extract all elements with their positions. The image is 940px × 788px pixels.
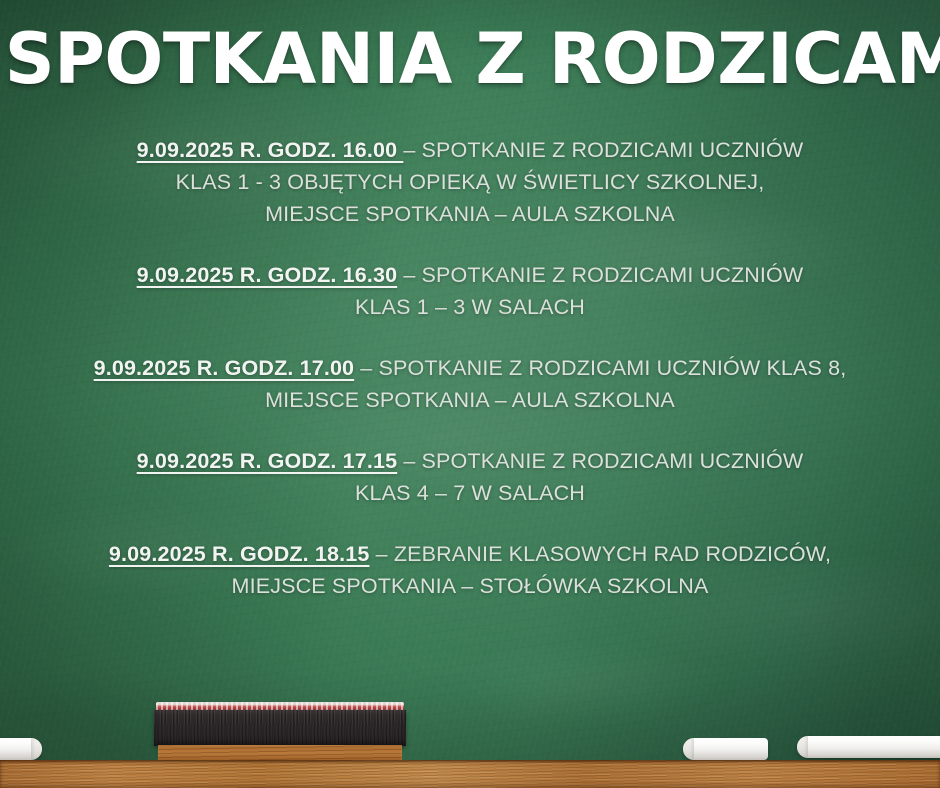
entry-text: – SPOTKANIE Z RODZICAMI UCZNIÓW KLAS 8, xyxy=(354,356,846,380)
entry-datetime: 9.09.2025 R. GODZ. 17.15 xyxy=(137,449,398,473)
entry-text: MIEJSCE SPOTKANIA – AULA SZKOLNA xyxy=(0,198,940,230)
schedule-entry: 9.09.2025 R. GODZ. 17.15 – SPOTKANIE Z R… xyxy=(0,445,940,509)
entry-datetime: 9.09.2025 R. GODZ. 18.15 xyxy=(109,542,370,566)
schedule-entry: 9.09.2025 R. GODZ. 16.00 – SPOTKANIE Z R… xyxy=(0,134,940,230)
entry-text: – SPOTKANIE Z RODZICAMI UCZNIÓW xyxy=(397,449,803,473)
entry-datetime: 9.09.2025 R. GODZ. 17.00 xyxy=(94,356,355,380)
chalk-stick-middle xyxy=(683,738,768,760)
entry-text: MIEJSCE SPOTKANIA – AULA SZKOLNA xyxy=(0,384,940,416)
entry-text: MIEJSCE SPOTKANIA – STOŁÓWKA SZKOLNA xyxy=(0,570,940,602)
eraser-felt-body xyxy=(154,710,406,746)
chalkboard-poster: SPOTKANIA Z RODZICAMI 9.09.2025 R. GODZ.… xyxy=(0,0,940,788)
schedule-entry: 9.09.2025 R. GODZ. 17.00 – SPOTKANIE Z R… xyxy=(0,352,940,416)
entry-text: – ZEBRANIE KLASOWYCH RAD RODZICÓW, xyxy=(369,542,831,566)
entry-text: KLAS 4 – 7 W SALACH xyxy=(0,477,940,509)
wooden-chalk-ledge xyxy=(0,760,940,788)
entry-text: KLAS 1 - 3 OBJĘTYCH OPIEKĄ W ŚWIETLICY S… xyxy=(0,166,940,198)
chalkboard-eraser xyxy=(154,702,406,762)
schedule-entry: 9.09.2025 R. GODZ. 18.15 – ZEBRANIE KLAS… xyxy=(0,538,940,602)
chalk-stick-right xyxy=(797,736,940,758)
ledge-top-edge xyxy=(0,760,940,763)
entry-text: KLAS 1 – 3 W SALACH xyxy=(0,291,940,323)
page-title: SPOTKANIA Z RODZICAMI xyxy=(5,18,936,100)
entry-datetime: 9.09.2025 R. GODZ. 16.30 xyxy=(137,263,398,287)
schedule-entry: 9.09.2025 R. GODZ. 16.30 – SPOTKANIE Z R… xyxy=(0,259,940,323)
entry-text: – SPOTKANIE Z RODZICAMI UCZNIÓW xyxy=(397,263,803,287)
poster-content: SPOTKANIA Z RODZICAMI 9.09.2025 R. GODZ.… xyxy=(0,0,940,762)
entry-datetime: 9.09.2025 R. GODZ. 16.00 xyxy=(137,138,404,162)
meeting-schedule-list: 9.09.2025 R. GODZ. 16.00 – SPOTKANIE Z R… xyxy=(0,134,940,631)
entry-text: – SPOTKANIE Z RODZICAMI UCZNIÓW xyxy=(403,138,803,162)
chalk-stick-left xyxy=(0,738,42,760)
